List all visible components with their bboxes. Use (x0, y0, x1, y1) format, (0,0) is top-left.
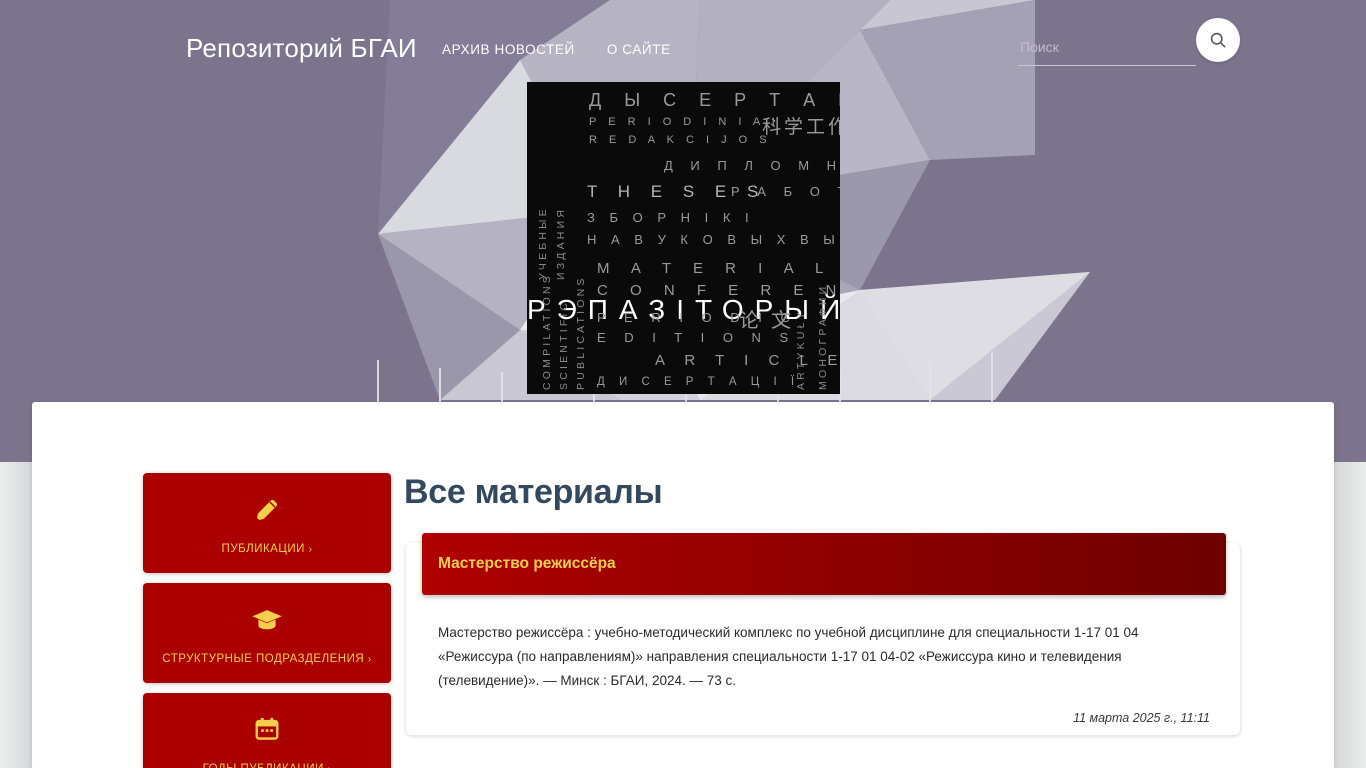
left-page-gradient (0, 462, 32, 768)
logo-line-articles: A R T I C L E S (655, 352, 840, 369)
sidebar-item-years[interactable]: ГОДЫ ПУБЛИКАЦИИ › (143, 693, 391, 768)
material-title: Мастерство режиссёра (438, 555, 616, 573)
sidebar-item-label: ГОДЫ ПУБЛИКАЦИИ › (149, 763, 385, 768)
page-title: Все материалы (404, 473, 1244, 512)
nav-about[interactable]: О САЙТЕ (607, 42, 671, 57)
sidebar-navigation: ПУБЛИКАЦИИ › СТРУКТУРНЫЕ ПОДРАЗДЕЛЕНИЯ › (143, 473, 391, 768)
site-header: Репозиторий БГАИ АРХИВ НОВОСТЕЙ О САЙТЕ … (0, 0, 1366, 462)
logo-line-materials: M A T E R I A L S (597, 260, 840, 277)
logo-vert-izdaniya: ИЗДАНИЯ (555, 90, 567, 280)
pencil-icon (149, 495, 385, 529)
main-content: Все материалы Мастерство режиссёра Масте… (404, 473, 1244, 735)
site-brand-title: Репозиторий БГАИ (186, 33, 417, 64)
search-input[interactable] (1018, 32, 1196, 66)
logo-line-zborniki: З Б О Р Н І К І (587, 210, 754, 225)
graduation-cap-icon (149, 605, 385, 639)
logo-vert-publications: PUBLICATIONS (575, 258, 587, 390)
logo-line-redakcijos: R E D A K C I J O S (589, 134, 771, 146)
sidebar-item-label: ПУБЛИКАЦИИ › (149, 543, 385, 555)
sidebar-item-publications[interactable]: ПУБЛИКАЦИИ › (143, 473, 391, 573)
search-icon (1208, 30, 1228, 50)
logo-line-dysertacyi: Д Ы С Е Р Т А Ц Ы І (589, 90, 840, 111)
logo-line-navukovyh: Н А В У К О В Ы Х В Ы Д А Н Н Я Ў (587, 232, 840, 247)
logo-line-diplomnye: Д И П Л О М Н Ы Е (664, 158, 840, 173)
right-page-gradient (1334, 462, 1366, 768)
logo-line-raboty: Р А Б О Т Ы (731, 184, 840, 199)
logo-vert-uchebnye: УЧЕБНЫЕ (537, 90, 549, 280)
nav-news-archive[interactable]: АРХИВ НОВОСТЕЙ (442, 42, 575, 57)
page-root: Репозиторий БГАИ АРХИВ НОВОСТЕЙ О САЙТЕ … (0, 0, 1366, 768)
search-button[interactable] (1196, 18, 1240, 62)
material-description: Мастерство режиссёра : учебно-методическ… (438, 621, 1178, 693)
calendar-icon (149, 715, 385, 749)
logo-line-cjk-article: 论文 (739, 304, 803, 333)
logo-vert-scientific: SCIENTIFIC (558, 258, 570, 390)
repository-logo-tile: УЧЕБНЫЕ ИЗДАНИЯ Д Ы С Е Р Т А Ц Ы І P E … (527, 82, 840, 394)
logo-vert-monografii: МОНОГРАФИИ (817, 258, 829, 390)
material-timestamp: 11 марта 2025 г., 11:11 (438, 711, 1224, 725)
logo-line-periodiniai: P E R I O D I N I A I (589, 116, 779, 128)
material-card-header[interactable]: Мастерство режиссёра (422, 533, 1226, 595)
material-card: Мастерство режиссёра Мастерство режиссёр… (406, 543, 1240, 735)
sidebar-item-label: СТРУКТУРНЫЕ ПОДРАЗДЕЛЕНИЯ › (149, 653, 385, 665)
top-navigation: АРХИВ НОВОСТЕЙ О САЙТЕ (442, 42, 671, 57)
logo-line-dysertacii: Д И С Е Р Т А Ц І Ї (597, 376, 800, 388)
logo-line-cjk-science: 科学工作 (762, 112, 840, 139)
logo-line-conferences: C O N F E R E N C E S (597, 282, 840, 299)
logo-vert-compilations: COMPILATIONS (541, 258, 553, 390)
sidebar-item-departments[interactable]: СТРУКТУРНЫЕ ПОДРАЗДЕЛЕНИЯ › (143, 583, 391, 683)
search-area (1018, 32, 1196, 66)
